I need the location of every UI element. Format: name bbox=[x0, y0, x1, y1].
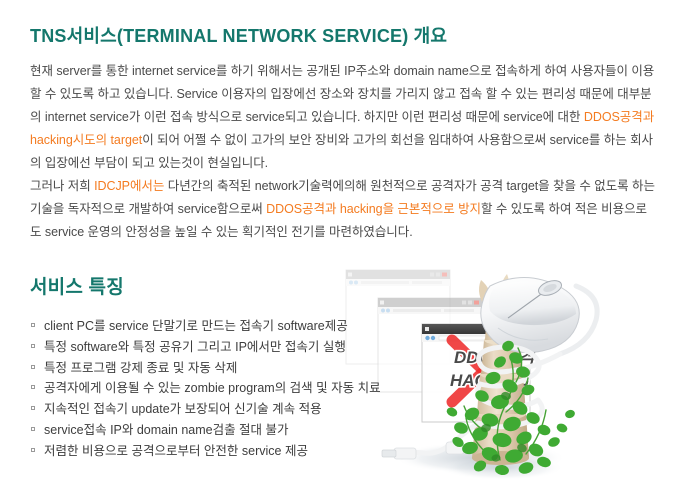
bamboo-post bbox=[472, 274, 544, 465]
features-list: client PC를 service 단말기로 만드는 접속기 software… bbox=[30, 316, 381, 462]
browser-window-front bbox=[422, 324, 530, 422]
blocked-label-hacking: HACKING bbox=[450, 371, 529, 390]
browser-window-middle bbox=[378, 298, 482, 392]
square-bullet-icon bbox=[31, 365, 35, 369]
square-bullet-icon bbox=[31, 406, 35, 410]
square-bullet-icon bbox=[31, 427, 35, 431]
intro-text-run-1-highlight: IDCJP에서는 bbox=[94, 179, 164, 193]
intro-text-run-0: 현재 server를 통한 internet service를 하기 위해서는 … bbox=[30, 64, 654, 124]
ddos-protection-illustration: DDOS공격 HACKING bbox=[330, 262, 680, 500]
feature-item-label: 공격자에게 이용될 수 있는 zombie program의 검색 및 자동 치… bbox=[44, 381, 381, 395]
vine-leaves bbox=[445, 339, 576, 476]
feature-item-label: 특정 프로그램 강제 종료 및 자동 삭제 bbox=[44, 361, 237, 375]
intro-paragraph-2: 그러나 저희 IDCJP에서는 다년간의 축적된 network기술력에의해 원… bbox=[30, 175, 655, 244]
illustration-svg: DDOS공격 HACKING bbox=[330, 262, 680, 500]
feature-item: 특정 software와 특정 공유기 그리고 IP에서만 접속기 실행 bbox=[30, 337, 381, 358]
feature-item-label: service접속 IP와 domain name검출 절대 불가 bbox=[44, 423, 289, 437]
square-bullet-icon bbox=[31, 323, 35, 327]
feature-item-label: 지속적인 접속기 update가 보장되어 신기술 계속 적용 bbox=[44, 402, 322, 416]
feature-item-label: client PC를 service 단말기로 만드는 접속기 software… bbox=[44, 319, 348, 333]
feature-item-label: 특정 software와 특정 공유기 그리고 IP에서만 접속기 실행 bbox=[44, 340, 346, 354]
intro-paragraph-1: 현재 server를 통한 internet service를 하기 위해서는 … bbox=[30, 60, 655, 175]
feature-item: 저렴한 비용으로 공격으로부터 안전한 service 제공 bbox=[30, 441, 381, 462]
ground-shadow bbox=[394, 442, 566, 474]
intro-text-run-0: 그러나 저희 bbox=[30, 179, 94, 193]
feature-item: 지속적인 접속기 update가 보장되어 신기술 계속 적용 bbox=[30, 399, 381, 420]
usb-connector bbox=[382, 442, 464, 459]
feature-item: 특정 프로그램 강제 종료 및 자동 삭제 bbox=[30, 358, 381, 379]
feature-item: client PC를 service 단말기로 만드는 접속기 software… bbox=[30, 316, 381, 337]
features-heading: 서비스 특징 bbox=[30, 272, 124, 299]
blocked-label-ddos: DDOS공격 bbox=[454, 348, 537, 367]
post-shadow bbox=[440, 456, 564, 480]
blocked-attack-stamp: DDOS공격 HACKING bbox=[450, 340, 537, 402]
feature-item-label: 저렴한 비용으로 공격으로부터 안전한 service 제공 bbox=[44, 444, 308, 458]
feature-item: 공격자에게 이용될 수 있는 zombie program의 검색 및 자동 치… bbox=[30, 378, 381, 399]
computer-mouse bbox=[481, 277, 579, 352]
vine-leaves-shade bbox=[480, 391, 528, 463]
usb-cable bbox=[402, 286, 597, 457]
feature-item: service접속 IP와 domain name검출 절대 불가 bbox=[30, 420, 381, 441]
intro-text-run-3-highlight: DDOS공격과 hacking을 근본적으로 방지 bbox=[266, 202, 481, 216]
climbing-vine bbox=[445, 339, 576, 476]
square-bullet-icon bbox=[31, 344, 35, 348]
page-root: DDOS공격 HACKING bbox=[0, 0, 680, 500]
square-bullet-icon bbox=[31, 448, 35, 452]
square-bullet-icon bbox=[31, 385, 35, 389]
page-title: TNS서비스(TERMINAL NETWORK SERVICE) 개요 bbox=[30, 22, 447, 48]
